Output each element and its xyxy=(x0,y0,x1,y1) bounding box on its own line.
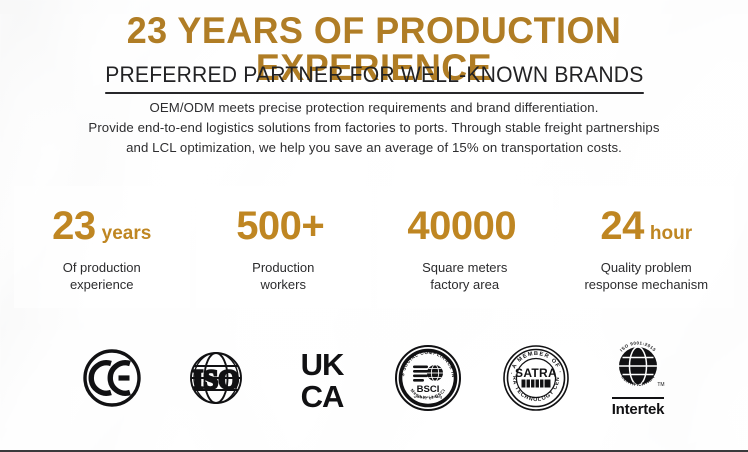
stat-label-line-2: factory area xyxy=(422,276,507,293)
stat-label: Production workers xyxy=(252,259,314,293)
body-line-3: and LCL optimization, we help you save a… xyxy=(24,138,724,158)
stat-value: 500+ xyxy=(236,206,330,246)
stat-card-experience: 23 years Of production experience xyxy=(14,186,190,308)
body-paragraph: OEM/ODM meets precise protection require… xyxy=(24,98,724,158)
stat-label-line-2: response mechanism xyxy=(584,276,708,293)
stat-label-line-1: Quality problem xyxy=(584,259,708,276)
stat-unit: hour xyxy=(650,224,692,243)
intertek-certification-icon: ISO 9001:2015 CERTIFICATION TM Intertek xyxy=(609,339,667,418)
stat-card-workers: 500+ Production workers xyxy=(196,186,372,308)
satra-membership-icon: · A MEMBER OF · SATRA TECHNOLOGY CENTRE … xyxy=(501,343,571,413)
stat-label-line-1: Square meters xyxy=(422,259,507,276)
stat-value: 40000 xyxy=(407,206,522,246)
statistics-row: 23 years Of production experience 500+ P… xyxy=(14,186,734,308)
svg-text:www.bsci-intl.org: www.bsci-intl.org xyxy=(414,395,442,399)
body-line-2: Provide end-to-end logistics solutions f… xyxy=(24,118,724,138)
subtitle-container: PREFERRED PARTNER FOR WELL-KNOWN BRANDS xyxy=(0,62,748,94)
stat-label-line-1: Of production xyxy=(63,259,141,276)
svg-text:BUSINESS SOCIAL COMPLIANCE INI: BUSINESS SOCIAL COMPLIANCE INITIATIVE xyxy=(393,343,456,378)
stat-number: 500+ xyxy=(236,206,324,246)
trademark-symbol: TM xyxy=(657,382,664,388)
iso-wordmark: ISO xyxy=(193,365,240,395)
stat-label: Quality problem response mechanism xyxy=(584,259,708,293)
stat-number: 40000 xyxy=(407,206,516,246)
body-line-1: OEM/ODM meets precise protection require… xyxy=(24,98,724,118)
stat-label-line-2: workers xyxy=(252,276,314,293)
ce-mark-icon xyxy=(81,347,143,409)
stat-value: 24 hour xyxy=(600,206,692,246)
stat-label: Square meters factory area xyxy=(422,259,507,293)
stat-value: 23 years xyxy=(52,206,151,246)
iso-certification-icon: ISO xyxy=(181,347,251,409)
bsci-certification-icon: BUSINESS SOCIAL COMPLIANCE INITIATIVE Me… xyxy=(393,343,463,413)
promo-banner: 23 YEARS OF PRODUCTION EXPERIENCE PREFER… xyxy=(0,0,748,452)
stat-card-factory-area: 40000 Square meters factory area xyxy=(377,186,553,308)
stat-label-line-2: experience xyxy=(63,276,141,293)
svg-text:CA: CA xyxy=(301,379,344,412)
svg-text:SATRA: SATRA xyxy=(515,366,557,380)
ukca-mark-icon: UK CA xyxy=(289,344,355,412)
stat-unit: years xyxy=(102,224,152,243)
stat-card-response-time: 24 hour Quality problem response mechani… xyxy=(559,186,735,308)
svg-text:UK: UK xyxy=(301,347,345,382)
certification-logo-row: ISO UK CA xyxy=(0,332,748,424)
svg-text:BSCI: BSCI xyxy=(417,384,440,395)
stat-number: 24 xyxy=(600,206,644,246)
stat-label: Of production experience xyxy=(63,259,141,293)
stat-label-line-1: Production xyxy=(252,259,314,276)
subtitle: PREFERRED PARTNER FOR WELL-KNOWN BRANDS xyxy=(105,62,643,94)
stat-number: 23 xyxy=(52,206,96,246)
intertek-wordmark: Intertek xyxy=(612,397,665,418)
